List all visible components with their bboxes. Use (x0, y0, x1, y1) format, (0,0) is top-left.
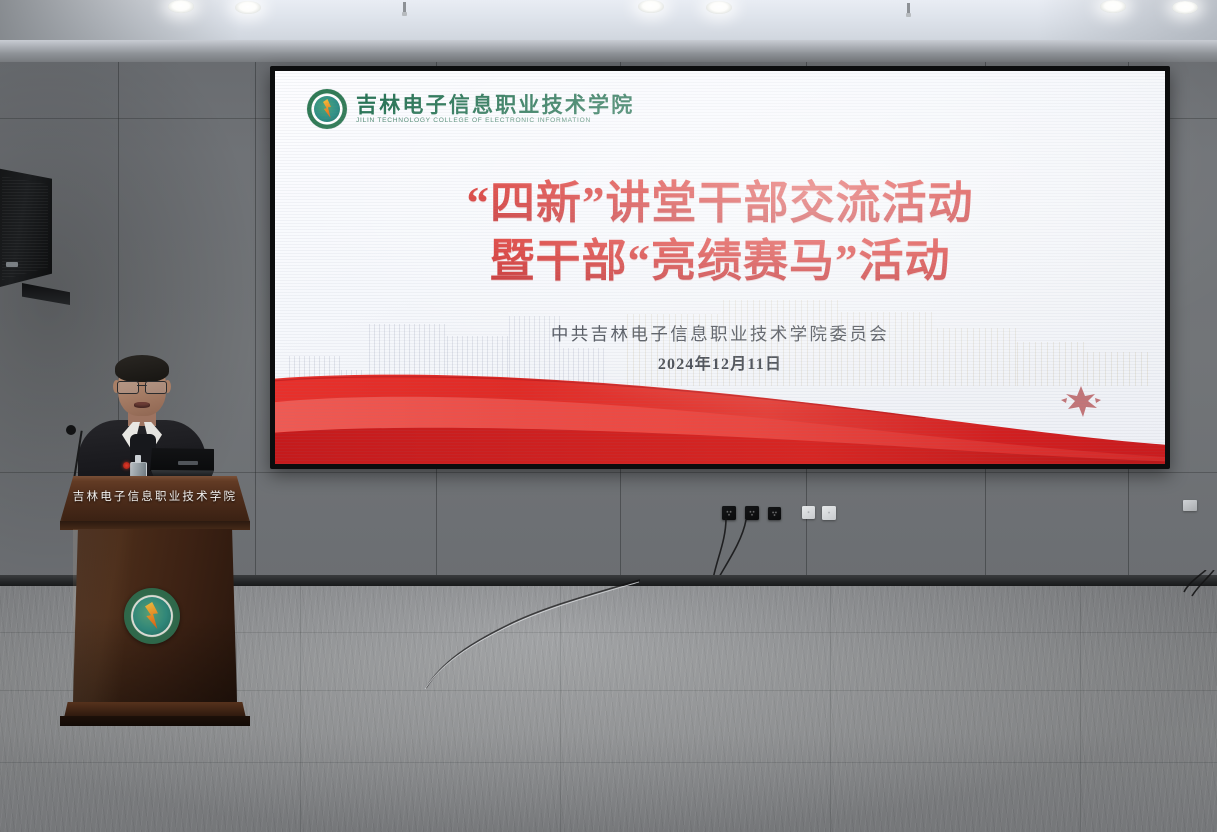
lapel-pin-icon (123, 462, 130, 469)
lectern: 吉林电子信息职业技术学院 (60, 476, 250, 742)
ceiling-shadow-left (0, 0, 240, 42)
ceiling-downlight-icon (235, 1, 261, 14)
laptop-brand-logo (178, 461, 198, 465)
lectern-plaque: 吉林电子信息职业技术学院 (60, 488, 250, 504)
conference-hall-scene: 吉林电子信息职业技术学院 JILIN TECHNOLOGY COLLEGE OF… (0, 0, 1217, 832)
slide-logo-text: 吉林电子信息职业技术学院 JILIN TECHNOLOGY COLLEGE OF… (356, 94, 634, 124)
slide-logo: 吉林电子信息职业技术学院 JILIN TECHNOLOGY COLLEGE OF… (307, 89, 634, 129)
wall-panel-seam (255, 62, 256, 586)
ceiling-downlight-icon (638, 0, 664, 13)
ceiling-downlight-icon (168, 0, 194, 13)
slide-title-line-1: “四新”讲堂干部交流活动 (275, 175, 1165, 233)
red-papercut-motif-icon (1059, 384, 1103, 418)
college-emblem-icon (124, 588, 180, 644)
red-wave-shape (275, 346, 1165, 464)
ceiling-downlight-icon (1100, 0, 1126, 13)
college-name-en: JILIN TECHNOLOGY COLLEGE OF ELECTRONIC I… (356, 117, 634, 124)
speaker-mouth (134, 402, 150, 408)
red-ribbon-graphic (275, 346, 1165, 464)
loudspeaker-badge (6, 262, 18, 267)
ceiling-downlight-icon (1172, 1, 1198, 14)
college-name-cn: 吉林电子信息职业技术学院 (356, 94, 634, 116)
light-switch-plate[interactable] (1183, 500, 1197, 511)
sprinkler-head-icon (402, 2, 407, 18)
presenter-laptop (150, 448, 214, 478)
glasses-icon (117, 381, 167, 392)
microphone-capsule-icon (66, 425, 76, 435)
lectern-foot (60, 716, 250, 726)
speaker-hair (115, 355, 169, 382)
ceiling-downlight-icon (706, 1, 732, 14)
sprinkler-head-icon (906, 3, 911, 19)
slide-title: “四新”讲堂干部交流活动 暨干部“亮绩赛马”活动 (275, 175, 1165, 290)
led-video-wall[interactable]: 吉林电子信息职业技术学院 JILIN TECHNOLOGY COLLEGE OF… (275, 71, 1165, 464)
college-emblem-icon (307, 89, 347, 129)
